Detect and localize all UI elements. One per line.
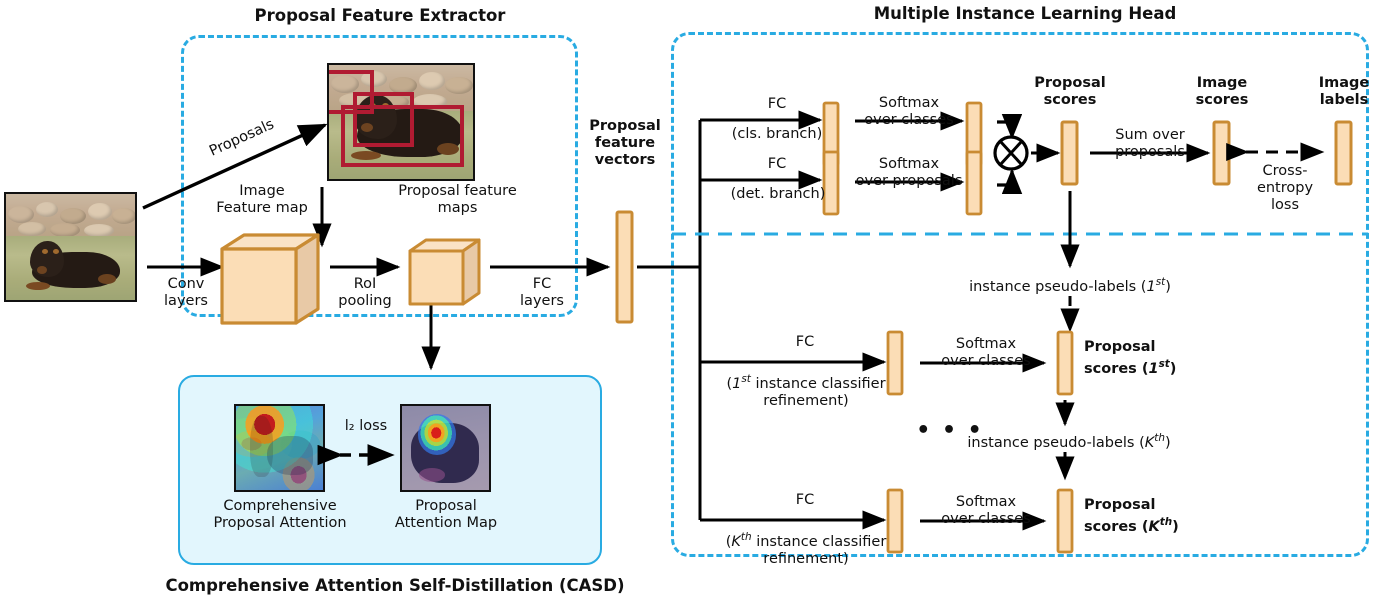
proposal-attention-map-caption: Proposal Attention Map: [376, 498, 516, 532]
conv-layers-label: Conv layers: [150, 276, 222, 310]
sum-over-proposals-label: Sum over proposals: [1096, 127, 1204, 161]
proposal-feature-vectors-label: Proposal feature vectors: [586, 118, 664, 169]
roi-pooling-label: RoI pooling: [330, 276, 400, 310]
cls-branch-fc-label: FC: [742, 96, 812, 113]
proposal-scores-label: Proposal scores: [1010, 75, 1130, 109]
refinement-kth-fc-label: FC: [770, 492, 840, 509]
softmax-over-classes-label: Softmax over classes: [853, 95, 965, 129]
image-labels-label: Image labels: [1304, 75, 1376, 109]
refinement-ellipsis: • • •: [910, 422, 990, 439]
comprehensive-proposal-attention-caption: Comprehensive Proposal Attention: [209, 498, 351, 532]
refinement-kth-softmax-label: Softmax over classes: [930, 494, 1042, 528]
refinement-first-softmax-label: Softmax over classes: [930, 336, 1042, 370]
fc-layers-label: FC layers: [508, 276, 576, 310]
image-feature-map-label: Image Feature map: [196, 183, 328, 217]
instance-pseudo-labels-first: instance pseudo-labels (1st): [942, 274, 1198, 296]
cross-entropy-loss-label: Cross- entropy loss: [1244, 163, 1326, 214]
refinement-kth-sublabel: (Kth instance classifier refinement): [700, 529, 912, 568]
refinement-first-fc-label: FC: [770, 334, 840, 351]
figure-canvas: Proposal Feature Extractor Multiple Inst…: [0, 0, 1376, 613]
softmax-over-proposals-label: Softmax over proposals: [847, 156, 971, 190]
proposal-scores-kth-label: Proposal scores (Kth): [1084, 497, 1244, 536]
proposal-feature-maps-label: Proposal feature maps: [380, 183, 535, 217]
cls-branch-sublabel: (cls. branch): [722, 126, 832, 143]
image-scores-label: Image scores: [1182, 75, 1262, 109]
det-branch-sublabel: (det. branch): [722, 186, 834, 203]
l2-loss-label: l₂ loss: [322, 418, 410, 435]
proposal-scores-first-label: Proposal scores (1st): [1084, 339, 1244, 378]
refinement-first-sublabel: (1st instance classifier refinement): [700, 371, 912, 410]
det-branch-fc-label: FC: [742, 156, 812, 173]
